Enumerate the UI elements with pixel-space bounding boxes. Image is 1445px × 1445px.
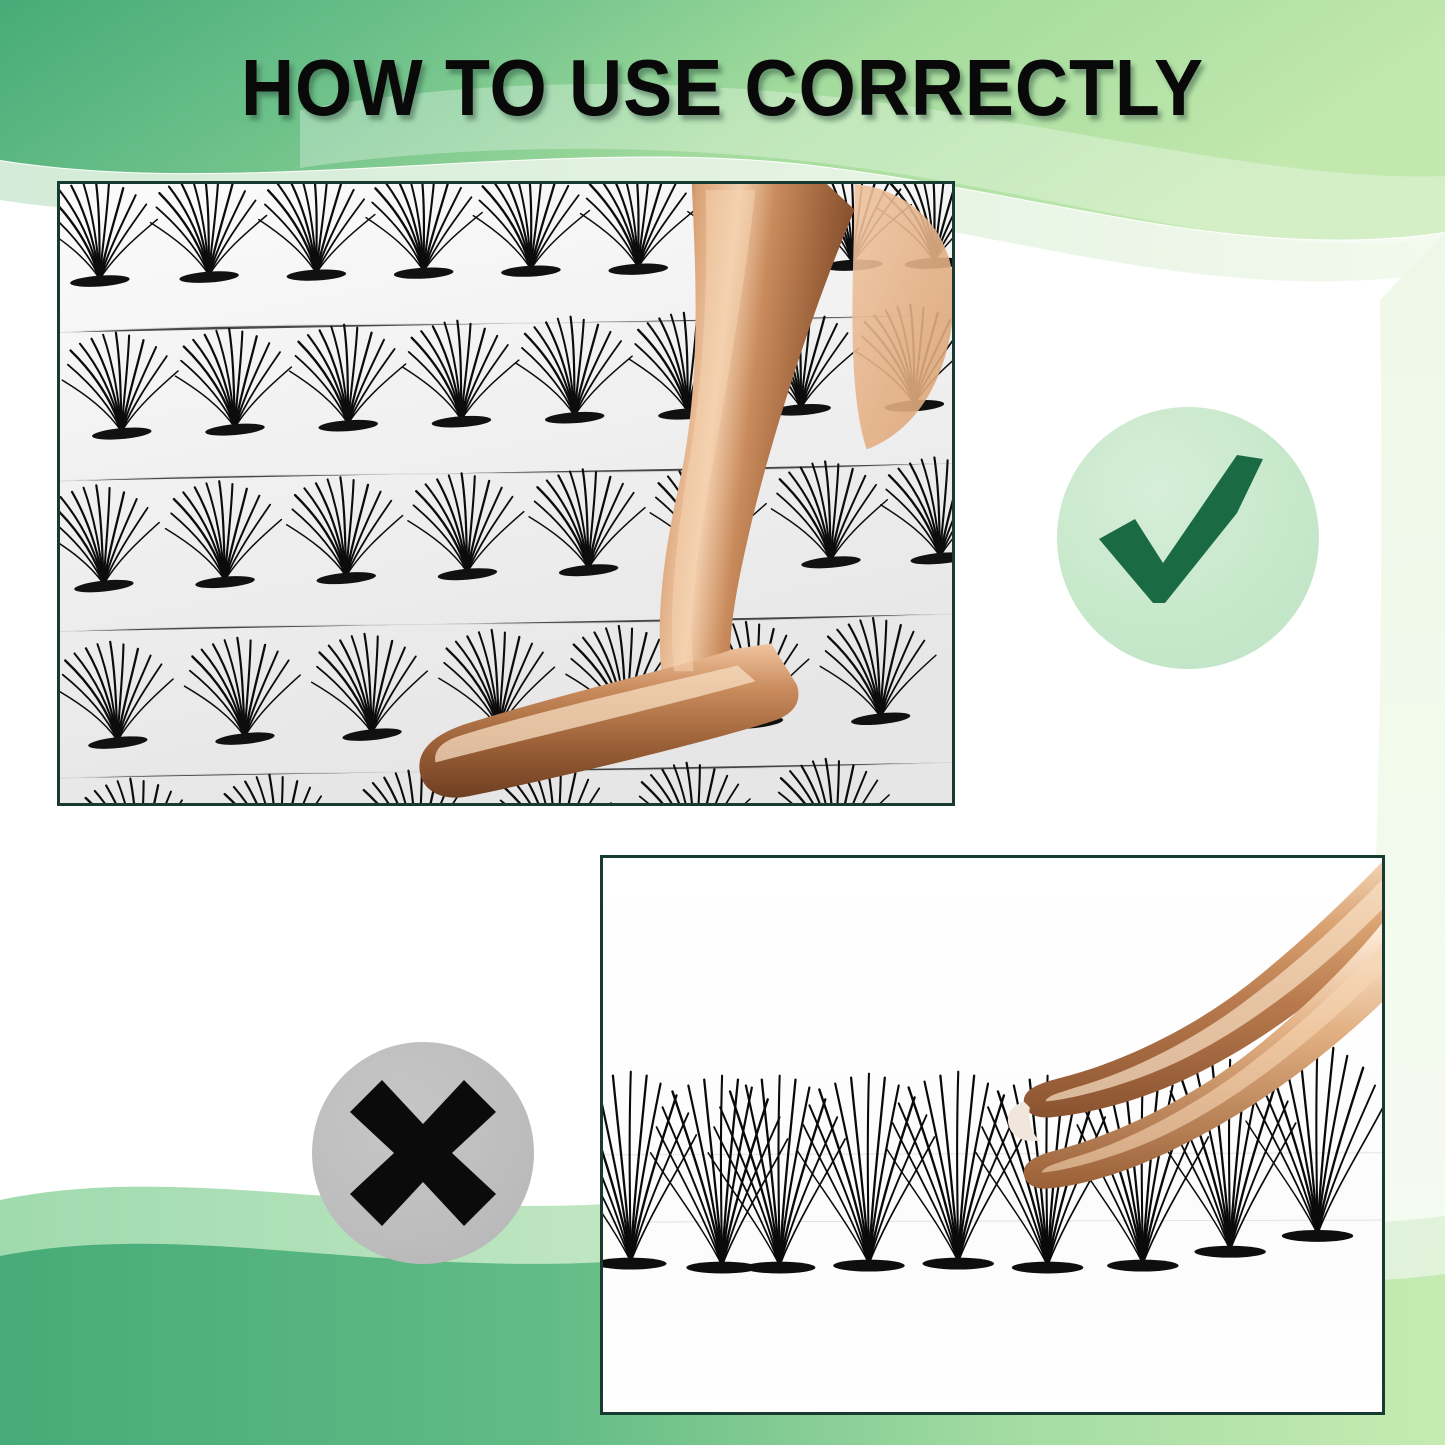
photo-incorrect-method — [600, 855, 1385, 1415]
lash-tray-closeup-illustration — [60, 184, 952, 803]
cross-badge — [312, 1042, 534, 1264]
x-icon — [312, 1042, 534, 1264]
check-badge — [1057, 407, 1319, 669]
page-title: HOW TO USE CORRECTLY — [58, 48, 1387, 128]
lash-row-side-illustration — [603, 858, 1382, 1412]
poster-canvas: HOW TO USE CORRECTLY — [0, 0, 1445, 1445]
photo-correct-method — [57, 181, 955, 806]
check-icon — [1057, 407, 1319, 669]
